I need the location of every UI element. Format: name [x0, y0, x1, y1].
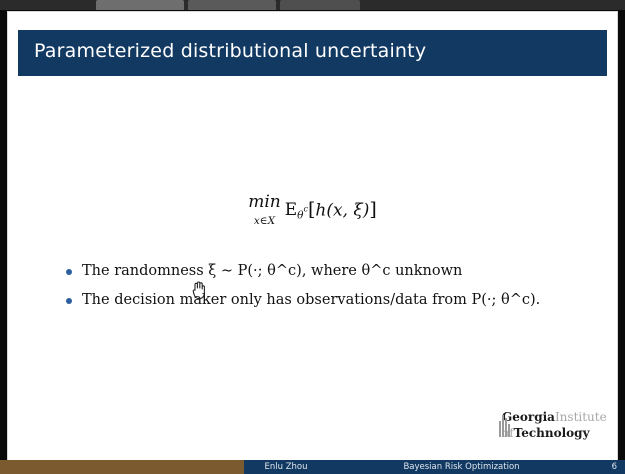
list-item: The decision maker only has observations… [66, 291, 606, 309]
bracket-close: ] [369, 199, 376, 221]
institution-logo: GeorgiaInstitute ofTechnology [499, 409, 603, 439]
logo-wordmark: GeorgiaInstitute ofTechnology [502, 408, 607, 440]
footer-accent-segment [0, 460, 244, 474]
slide-page: Parameterized distributional uncertainty… [8, 12, 617, 461]
bullet-dot-icon [66, 269, 72, 275]
min-label: min [248, 192, 281, 212]
slide-title: Parameterized distributional uncertainty [34, 40, 426, 62]
chrome-tab-stub-3[interactable] [280, 0, 360, 10]
chrome-tab-stub-1[interactable] [96, 0, 184, 10]
bullet-text-1: The randomness ξ ∼ P(·; θ^c), where θ^c … [82, 262, 462, 280]
footer-page-number: 6 [591, 462, 625, 472]
chrome-tab-stub-2[interactable] [188, 0, 276, 10]
logo-line2-bold: Technology [514, 426, 590, 440]
window-chrome-strip [0, 0, 625, 10]
footer-author: Enlu Zhou [244, 462, 328, 472]
expectation-superscript: c [303, 205, 307, 214]
min-subscript: x∈X [254, 215, 275, 227]
bullet-dot-icon [66, 298, 72, 304]
slide-footer-bar: Enlu Zhou Bayesian Risk Optimization 6 [0, 460, 625, 474]
equation-inner: h(x, ξ) [315, 201, 369, 221]
equation-display: min x∈X Eθc[h(x, ξ)] [8, 194, 617, 228]
bullet-list: The randomness ξ ∼ P(·; θ^c), where θ^c … [66, 262, 606, 320]
logo-line1-bold: Georgia [502, 410, 555, 424]
slide-title-bar: Parameterized distributional uncertainty [18, 30, 607, 76]
presentation-screen: Parameterized distributional uncertainty… [0, 0, 625, 474]
bullet-text-2: The decision maker only has observations… [82, 291, 540, 309]
footer-title: Bayesian Risk Optimization [328, 462, 591, 472]
expectation-symbol: E [285, 200, 297, 220]
list-item: The randomness ξ ∼ P(·; θ^c), where θ^c … [66, 262, 606, 280]
logo-line1-grey: Institute [555, 410, 607, 424]
min-operator: min x∈X [248, 194, 281, 228]
expectation-operator: Eθc [285, 200, 308, 222]
